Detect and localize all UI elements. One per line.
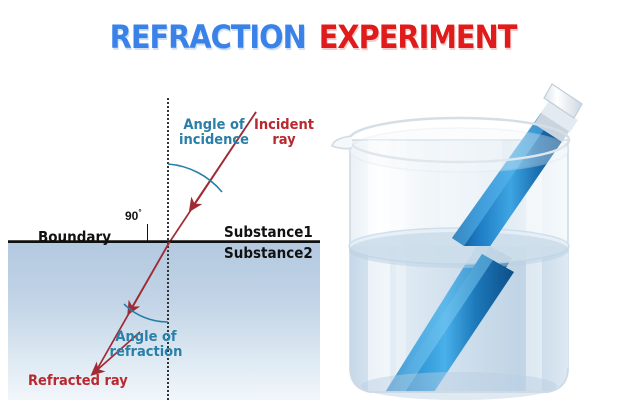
page-title: Refraction Experiment [0,2,626,64]
angle-of-incidence-arc [168,164,222,192]
substance1-label: Substance1 [224,225,313,240]
refracted-ray-label: Refracted ray [28,374,128,389]
beaker-bottom-shadow [361,372,557,400]
title-space [306,6,319,59]
beaker-svg [330,78,626,408]
angle-of-incidence-label: Angle of incidence [175,118,253,148]
beaker-illustration [330,78,626,408]
substance2-label: Substance2 [224,246,313,261]
title-word-experiment: Experiment [319,6,517,59]
incident-ray-label: Incident ray [253,118,315,148]
ray-diagram: 90° Angle of incidence [0,64,330,408]
title-word-refraction: Refraction [110,6,306,59]
angle-of-refraction-label: Angle of refraction [108,330,184,360]
boundary-label: Boundary [38,230,111,245]
refracted-ray-mid-arrowhead [131,243,169,309]
refraction-experiment-illustration: Refraction Experiment 90° [0,0,626,408]
beaker-spout [332,136,352,149]
angle-of-refraction-arc [124,304,168,322]
